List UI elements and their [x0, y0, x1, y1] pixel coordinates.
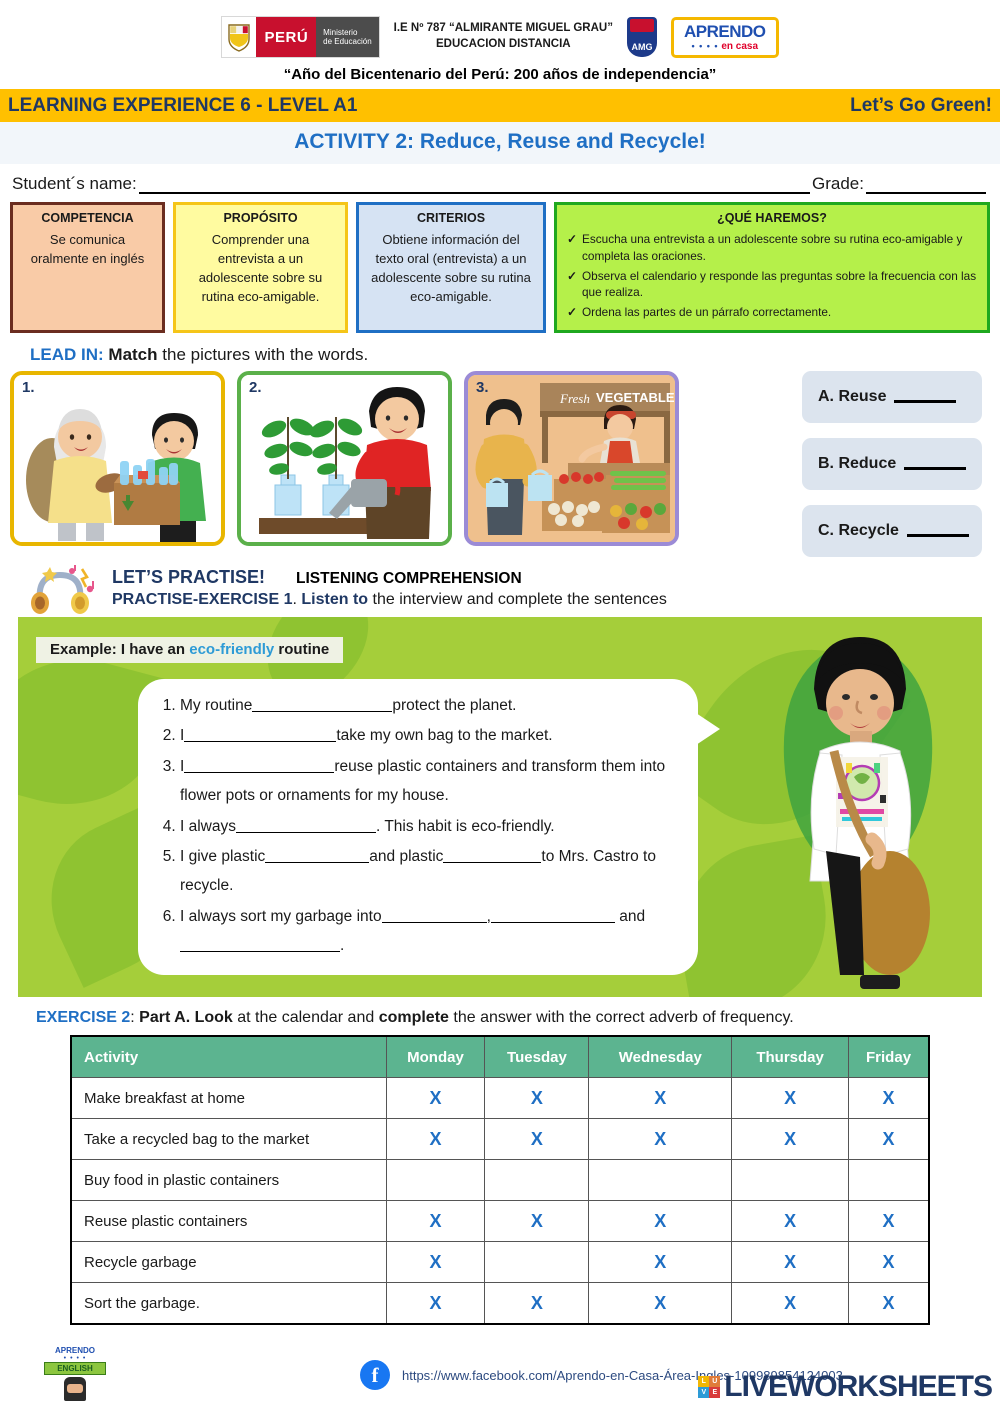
school-name-line1: I.E Nº 787 “ALMIRANTE MIGUEL GRAU”	[394, 21, 613, 37]
school-crest-icon: AMG	[627, 17, 657, 57]
student-name-input[interactable]	[139, 178, 810, 194]
cell-wed: X	[589, 1119, 732, 1160]
page-footer: APRENDO • • • • ENGLISH f https://www.fa…	[0, 1346, 1000, 1408]
answer-option-c[interactable]: C. Recycle	[802, 505, 982, 557]
list-item: Ireuse plastic containers and transform …	[180, 752, 684, 811]
table-row: Recycle garbage X X X X	[71, 1242, 929, 1283]
cell-thu	[732, 1160, 849, 1201]
cell-fri: X	[849, 1242, 929, 1283]
speech-bubble: My routineprotect the planet. Itake my o…	[138, 679, 698, 975]
cell-wed	[589, 1160, 732, 1201]
aprendo-footer-word: APRENDO	[44, 1346, 106, 1355]
proposito-box: PROPÓSITO Comprender una entrevista a un…	[173, 202, 348, 333]
lw-cell-l: L	[698, 1376, 709, 1387]
lead-in-verb: Match	[108, 345, 157, 364]
page-title: ACTIVITY 2: Reduce, Reuse and Recycle!	[294, 130, 706, 153]
exercise1-rest: the interview and complete the sentences	[373, 591, 667, 608]
row-activity: Take a recycled bag to the market	[71, 1119, 386, 1160]
proposito-title: PROPÓSITO	[184, 211, 337, 225]
list-item: Itake my own bag to the market.	[180, 721, 684, 750]
table-body: Make breakfast at home X X X X X Take a …	[71, 1078, 929, 1324]
sentence6-blank-2[interactable]	[491, 910, 615, 923]
aprendo-encasa: en casa	[721, 41, 758, 52]
table-row: Make breakfast at home X X X X X	[71, 1078, 929, 1119]
column-header-tuesday: Tuesday	[485, 1036, 589, 1078]
sentence5-blank-1[interactable]	[265, 850, 369, 863]
cell-tue: X	[485, 1201, 589, 1242]
cell-mon: X	[386, 1119, 485, 1160]
cell-wed: X	[589, 1201, 732, 1242]
lw-cell-v: V	[698, 1387, 709, 1398]
picture-1-recycle-box[interactable]: 1.	[10, 371, 225, 546]
cell-tue: X	[485, 1283, 589, 1324]
lw-cell-u: U	[709, 1376, 720, 1387]
table-row: Reuse plastic containers X X X X X	[71, 1201, 929, 1242]
que-haremos-box: ¿QUÉ HAREMOS? Escucha una entrevista a u…	[554, 202, 990, 333]
liveworksheets-icon: L U V E	[698, 1376, 720, 1398]
cell-tue	[485, 1160, 589, 1201]
criterios-box: CRITERIOS Obtiene información del texto …	[356, 202, 546, 333]
row-activity: Recycle garbage	[71, 1242, 386, 1283]
row-activity: Buy food in plastic containers	[71, 1160, 386, 1201]
activity-title-bar: ACTIVITY 2: Reduce, Reuse and Recycle!	[0, 122, 1000, 164]
table-row: Buy food in plastic containers	[71, 1160, 929, 1201]
banner-right-text: Let’s Go Green!	[850, 95, 992, 117]
sentence5-blank-2[interactable]	[443, 850, 541, 863]
sentence-list: My routineprotect the planet. Itake my o…	[154, 691, 684, 961]
competencia-body: Se comunica oralmente en inglés	[21, 231, 154, 269]
banner-left-text: LEARNING EXPERIENCE 6 - LEVEL A1	[8, 95, 357, 117]
column-header-thursday: Thursday	[732, 1036, 849, 1078]
sentence1-part1: My routine	[180, 697, 252, 714]
answer-option-b[interactable]: B. Reduce	[802, 438, 982, 490]
school-name: I.E Nº 787 “ALMIRANTE MIGUEL GRAU” EDUCA…	[394, 21, 613, 52]
cell-mon: X	[386, 1078, 485, 1119]
market-sign-script: Fresh	[559, 391, 590, 406]
facebook-icon[interactable]: f	[360, 1360, 390, 1390]
cell-wed: X	[589, 1283, 732, 1324]
example-highlight: eco-friendly	[189, 641, 274, 658]
exercise2-bold2: complete	[379, 1009, 449, 1026]
practise-section: LET’S PRACTISE! LISTENING COMPREHENSION …	[0, 557, 1000, 611]
headphones-icon	[28, 563, 98, 619]
cell-mon	[386, 1160, 485, 1201]
exercise2-instruction: EXERCISE 2: Part A. Look at the calendar…	[0, 997, 1000, 1035]
row-activity: Sort the garbage.	[71, 1283, 386, 1324]
practise-instruction: PRACTISE-EXERCISE 1. Listen to the inter…	[30, 591, 1000, 609]
answer-option-a[interactable]: A. Reuse	[802, 371, 982, 423]
sentence4-part1: I always	[180, 818, 236, 835]
learning-experience-banner: LEARNING EXPERIENCE 6 - LEVEL A1 Let’s G…	[0, 89, 1000, 122]
cell-mon: X	[386, 1201, 485, 1242]
table-header: Activity Monday Tuesday Wednesday Thursd…	[71, 1036, 929, 1078]
cell-tue	[485, 1242, 589, 1283]
exercise2-label: EXERCISE 2	[36, 1009, 130, 1026]
row-activity: Reuse plastic containers	[71, 1201, 386, 1242]
aprendo-en-casa-logo: APRENDO • • • • en casa	[671, 17, 779, 58]
sentence6-part4: .	[340, 937, 344, 954]
answer-c-label: C. Recycle	[818, 522, 899, 540]
picture-3-vegetable-market[interactable]: 3. Fresh VEGETABLES	[464, 371, 679, 546]
header-logo-strip: PERÚ Ministerio de Educación I.E Nº 787 …	[0, 0, 1000, 62]
listening-exercise-panel: Example: I have an eco-friendly routine …	[18, 617, 982, 997]
table-row: Sort the garbage. X X X X X	[71, 1283, 929, 1324]
aprendo-footer-dots: • • • •	[44, 1355, 106, 1362]
row-activity: Make breakfast at home	[71, 1078, 386, 1119]
student-info-row: Student´s name: Grade:	[0, 164, 1000, 202]
market-sign-text: VEGETABLES	[596, 390, 675, 405]
exercise2-rest: the answer with the correct adverb of fr…	[449, 1009, 794, 1026]
criterios-body: Obtiene información del texto oral (entr…	[367, 231, 535, 306]
column-header-wednesday: Wednesday	[589, 1036, 732, 1078]
cell-mon: X	[386, 1283, 485, 1324]
lead-in-rest: the pictures with the words.	[162, 345, 368, 364]
column-header-friday: Friday	[849, 1036, 929, 1078]
table-row: Take a recycled bag to the market X X X …	[71, 1119, 929, 1160]
cell-fri	[849, 1160, 929, 1201]
lead-in-label: LEAD IN:	[30, 345, 104, 364]
exercise2-part: Part A. Look	[139, 1009, 233, 1026]
cell-thu: X	[732, 1242, 849, 1283]
ministerio-line1: Ministerio	[323, 28, 371, 37]
liveworksheets-watermark: L U V E LIVEWORKSHEETS	[698, 1370, 992, 1404]
bicentenario-motto: “Año del Bicentenario del Perú: 200 años…	[0, 62, 1000, 89]
aprendo-word: APRENDO	[684, 23, 766, 40]
list-item: My routineprotect the planet.	[180, 691, 684, 720]
sentence4-part2: . This habit is eco-friendly.	[376, 818, 555, 835]
lw-icon-row-top: L U	[698, 1376, 720, 1387]
peru-coat-of-arms-icon	[222, 17, 256, 57]
criterios-title: CRITERIOS	[367, 211, 535, 225]
picture-2-number: 2.	[249, 379, 262, 396]
answer-b-label: B. Reduce	[818, 455, 896, 473]
practise-heading-row: LET’S PRACTISE! LISTENING COMPREHENSION	[30, 567, 1000, 588]
student-name-label: Student´s name:	[12, 174, 137, 194]
sentence5-part2: and plastic	[369, 848, 443, 865]
school-name-line2: EDUCACION DISTANCIA	[394, 37, 613, 53]
list-item: I give plasticand plasticto Mrs. Castro …	[180, 842, 684, 901]
exercise1-label: PRACTISE-EXERCISE 1	[112, 591, 292, 608]
competencia-title: COMPETENCIA	[21, 211, 154, 225]
lead-in-instruction: LEAD IN: Match the pictures with the wor…	[0, 333, 1000, 371]
table-header-row: Activity Monday Tuesday Wednesday Thursd…	[71, 1036, 929, 1078]
cell-fri: X	[849, 1078, 929, 1119]
cell-wed: X	[589, 1078, 732, 1119]
avatar	[64, 1377, 86, 1401]
answer-a-input[interactable]	[894, 391, 956, 403]
sentence4-blank[interactable]	[236, 820, 376, 833]
listening-comprehension-label: LISTENING COMPREHENSION	[296, 570, 522, 587]
aprendo-english-logo: APRENDO • • • • ENGLISH	[44, 1346, 106, 1401]
grade-input[interactable]	[866, 178, 986, 194]
column-header-activity: Activity	[71, 1036, 386, 1078]
sentence6-blank-1[interactable]	[382, 910, 487, 923]
frequency-calendar-table: Activity Monday Tuesday Wednesday Thursd…	[70, 1035, 930, 1325]
aprendo-english-badge: ENGLISH	[44, 1362, 106, 1375]
list-item: Observa el calendario y responde las pre…	[565, 268, 979, 302]
exercise2-mid: at the calendar and	[237, 1009, 378, 1026]
sentence1-part2: protect the planet.	[392, 697, 516, 714]
list-item: Ordena las partes de un párrafo correcta…	[565, 304, 979, 321]
lw-icon-row-bottom: V E	[698, 1387, 720, 1398]
grade-label: Grade:	[812, 174, 864, 194]
picture-3-number: 3.	[476, 379, 489, 396]
cell-mon: X	[386, 1242, 485, 1283]
cell-fri: X	[849, 1201, 929, 1242]
ministerio-line2: de Educación	[323, 37, 371, 46]
lead-in-row: 1.	[0, 371, 1000, 557]
cell-fri: X	[849, 1283, 929, 1324]
que-haremos-list: Escucha una entrevista a un adolescente …	[565, 231, 979, 321]
picture-2-watering-plants[interactable]: 2.	[237, 371, 452, 546]
list-item: I always sort my garbage into, and.	[180, 902, 684, 961]
list-item: I always. This habit is eco-friendly.	[180, 812, 684, 841]
sentence6-part3: and	[615, 908, 645, 925]
sentence3-blank[interactable]	[184, 760, 334, 773]
cell-tue: X	[485, 1119, 589, 1160]
answer-options: A. Reuse B. Reduce C. Recycle	[802, 371, 990, 557]
answer-b-input[interactable]	[904, 458, 966, 470]
sentence1-blank[interactable]	[252, 699, 392, 712]
crest-top-band	[630, 19, 654, 32]
minedu-logo: PERÚ Ministerio de Educación	[221, 16, 379, 58]
sentence2-part2: take my own bag to the market.	[336, 727, 552, 744]
cell-tue: X	[485, 1078, 589, 1119]
cell-wed: X	[589, 1242, 732, 1283]
proposito-body: Comprender una entrevista a un adolescen…	[184, 231, 337, 306]
practise-title: LET’S PRACTISE!	[112, 567, 265, 587]
answer-a-label: A. Reuse	[818, 388, 886, 406]
crest-label: AMG	[631, 42, 652, 52]
ministerio-wordmark: Ministerio de Educación	[316, 17, 378, 57]
example-prefix: Example: I have an	[50, 641, 189, 658]
cell-thu: X	[732, 1078, 849, 1119]
sentence6-part1: I always sort my garbage into	[180, 908, 382, 925]
list-item: Escucha una entrevista a un adolescente …	[565, 231, 979, 265]
exercise1-verb: Listen to	[301, 591, 368, 608]
teen-character-illustration	[762, 627, 958, 997]
que-haremos-title: ¿QUÉ HAREMOS?	[565, 211, 979, 225]
competencia-box: COMPETENCIA Se comunica oralmente en ing…	[10, 202, 165, 333]
sentence5-part1: I give plastic	[180, 848, 265, 865]
lw-cell-e: E	[709, 1387, 720, 1398]
cell-thu: X	[732, 1283, 849, 1324]
peru-wordmark: PERÚ	[256, 17, 316, 57]
lesson-info-boxes: COMPETENCIA Se comunica oralmente en ing…	[0, 202, 1000, 333]
picture-1-number: 1.	[22, 379, 35, 396]
aprendo-dots: • • • •	[691, 41, 718, 51]
aprendo-subline: • • • • en casa	[684, 42, 766, 52]
column-header-monday: Monday	[386, 1036, 485, 1078]
example-suffix: routine	[274, 641, 329, 658]
cell-thu: X	[732, 1201, 849, 1242]
sentence6-blank-3[interactable]	[180, 939, 340, 952]
answer-c-input[interactable]	[907, 525, 969, 537]
sentence2-blank[interactable]	[184, 729, 336, 742]
cell-fri: X	[849, 1119, 929, 1160]
example-sentence: Example: I have an eco-friendly routine	[36, 637, 343, 663]
cell-thu: X	[732, 1119, 849, 1160]
liveworksheets-brand-text: LIVEWORKSHEETS	[724, 1370, 992, 1404]
